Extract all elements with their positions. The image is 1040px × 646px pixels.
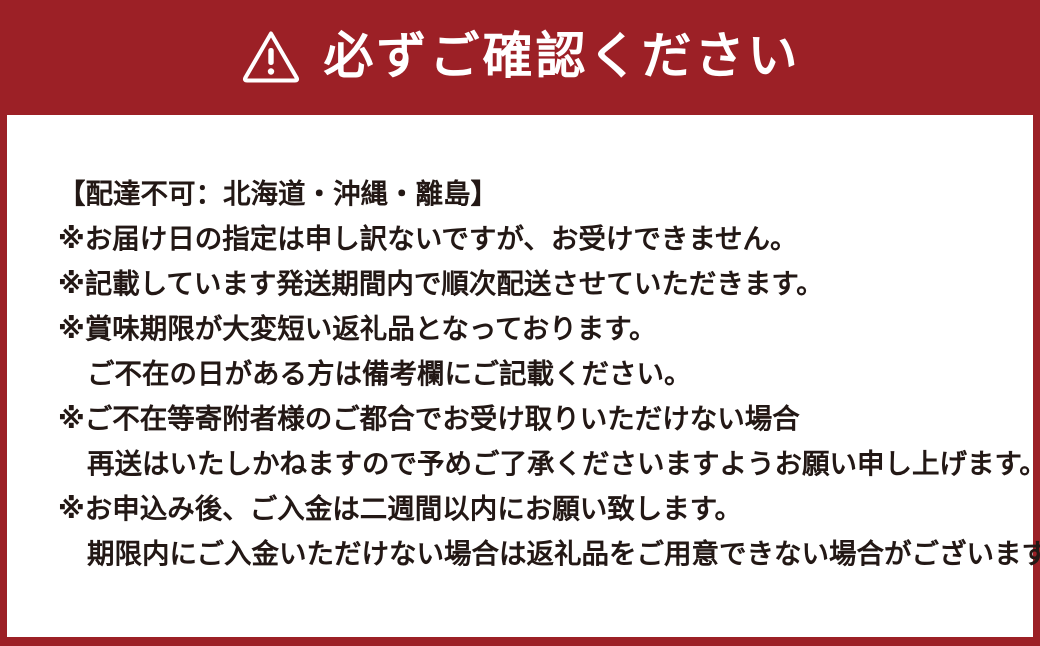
notice-line: ※賞味期限が大変短い返礼品となっております。 xyxy=(58,306,1033,351)
page-title: 必ずご確認ください xyxy=(324,31,801,81)
notice-line: ※ご不在等寄附者様のご都合でお受け取りいただけない場合 xyxy=(58,396,1033,441)
notice-card: 必ずご確認ください 【配達不可：北海道・沖縄・離島】 ※お届け日の指定は申し訳な… xyxy=(0,0,1040,646)
notice-line: ※記載しています発送期間内で順次配送させていただきます。 xyxy=(58,261,1033,306)
notice-body: 【配達不可：北海道・沖縄・離島】 ※お届け日の指定は申し訳ないですが、お受けでき… xyxy=(7,115,1033,637)
notice-line: 【配達不可：北海道・沖縄・離島】 xyxy=(58,171,1033,216)
notice-line: 再送はいたしかねますので予めご了承くださいますようお願い申し上げます。 xyxy=(58,441,1033,486)
warning-triangle-icon xyxy=(240,28,302,84)
notice-line: 期限内にご入金いただけない場合は返礼品をご用意できない場合がございます。 xyxy=(58,531,1033,576)
notice-line: ※お申込み後、ご入金は二週間以内にお願い致します。 xyxy=(58,486,1033,531)
notice-header-band: 必ずご確認ください xyxy=(0,0,1040,115)
notice-line: ※お届け日の指定は申し訳ないですが、お受けできません。 xyxy=(58,216,1033,261)
notice-line: ご不在の日がある方は備考欄にご記載ください。 xyxy=(58,351,1033,396)
header-inner: 必ずご確認ください xyxy=(240,28,801,84)
